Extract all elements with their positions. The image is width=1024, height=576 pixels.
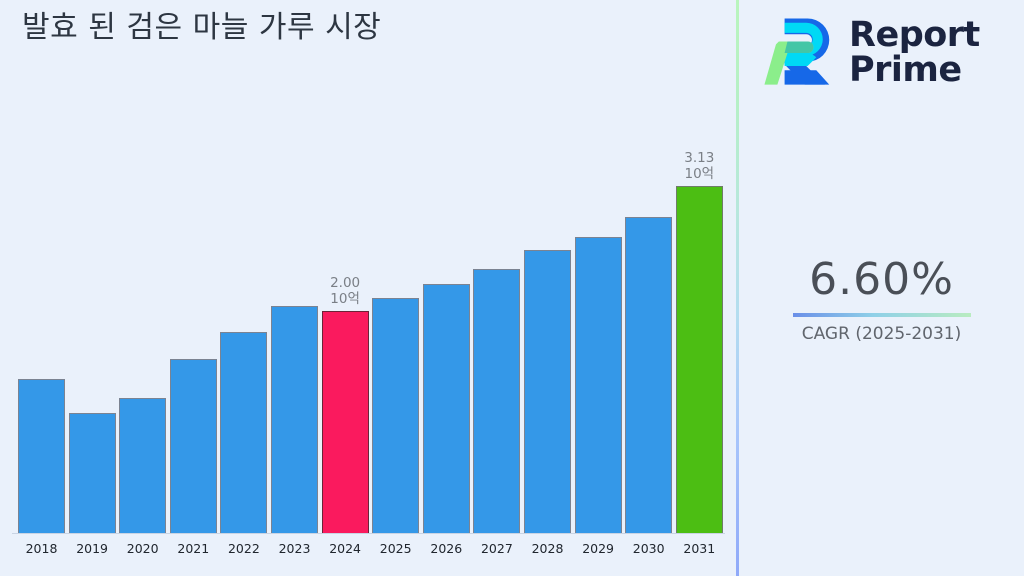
bar-value-unit-2031: 10억 — [684, 166, 714, 182]
x-axis-label-2024: 2024 — [322, 541, 369, 556]
bar-rect-2024[interactable] — [322, 311, 369, 533]
x-axis-label-2021: 2021 — [170, 541, 217, 556]
bar-2021[interactable] — [170, 359, 217, 533]
bar-rect-2022[interactable] — [220, 332, 267, 533]
bar-2030[interactable] — [625, 217, 672, 533]
bar-rect-2029[interactable] — [575, 237, 622, 533]
bar-rect-2018[interactable] — [18, 379, 65, 533]
bar-value-label-2031: 3.1310억 — [684, 150, 714, 182]
x-axis-label-2025: 2025 — [372, 541, 419, 556]
bar-2024[interactable] — [322, 311, 369, 533]
side-panel: Report Prime 6.60% CAGR (2025-2031) — [739, 0, 1024, 576]
bar-2020[interactable] — [119, 398, 166, 533]
bar-2025[interactable] — [372, 298, 419, 533]
bar-rect-2028[interactable] — [524, 250, 571, 533]
chart-panel: 발효 된 검은 마늘 가루 시장 20182019202020212022202… — [0, 0, 737, 576]
x-axis-label-2030: 2030 — [625, 541, 672, 556]
brand-logo: Report Prime — [763, 12, 980, 94]
bar-2026[interactable] — [423, 284, 470, 533]
bar-rect-2019[interactable] — [69, 413, 116, 533]
bar-rect-2031[interactable] — [676, 186, 723, 533]
bar-2022[interactable] — [220, 332, 267, 533]
screenshot-root: 발효 된 검은 마늘 가루 시장 20182019202020212022202… — [0, 0, 1024, 576]
cagr-divider-rule — [793, 313, 971, 317]
x-axis-label-2027: 2027 — [473, 541, 520, 556]
x-axis-label-2029: 2029 — [575, 541, 622, 556]
bar-2029[interactable] — [575, 237, 622, 533]
x-axis-label-2031: 2031 — [676, 541, 723, 556]
bar-value-label-2024: 2.0010억 — [330, 275, 360, 307]
bar-rect-2020[interactable] — [119, 398, 166, 533]
cagr-block: 6.60% CAGR (2025-2031) — [739, 255, 1024, 345]
bar-value-number-2031: 3.13 — [684, 150, 714, 166]
bar-rect-2030[interactable] — [625, 217, 672, 533]
bar-value-number-2024: 2.00 — [330, 275, 360, 291]
bar-2031[interactable] — [676, 186, 723, 533]
brand-name: Report Prime — [849, 18, 980, 88]
x-axis-label-2018: 2018 — [18, 541, 65, 556]
brand-name-line1: Report — [849, 18, 980, 53]
bar-rect-2023[interactable] — [271, 306, 318, 533]
bar-series: 2018201920202021202220232.0010억202420252… — [0, 0, 737, 576]
bar-2019[interactable] — [69, 413, 116, 533]
x-axis-label-2022: 2022 — [220, 541, 267, 556]
report-prime-r-logo-icon — [763, 12, 835, 94]
cagr-value: 6.60% — [739, 255, 1024, 305]
x-axis-label-2028: 2028 — [524, 541, 571, 556]
x-axis-label-2020: 2020 — [119, 541, 166, 556]
bar-rect-2025[interactable] — [372, 298, 419, 533]
bar-value-unit-2024: 10억 — [330, 291, 360, 307]
bar-2018[interactable] — [18, 379, 65, 533]
bar-rect-2027[interactable] — [473, 269, 520, 533]
bar-2028[interactable] — [524, 250, 571, 533]
x-axis-label-2019: 2019 — [69, 541, 116, 556]
bar-2027[interactable] — [473, 269, 520, 533]
x-axis-label-2026: 2026 — [423, 541, 470, 556]
x-axis-label-2023: 2023 — [271, 541, 318, 556]
bar-rect-2026[interactable] — [423, 284, 470, 533]
bar-2023[interactable] — [271, 306, 318, 533]
brand-name-line2: Prime — [849, 53, 980, 88]
bar-rect-2021[interactable] — [170, 359, 217, 533]
cagr-label: CAGR (2025-2031) — [739, 323, 1024, 345]
bar-chart-plot: 2018201920202021202220232.0010억202420252… — [0, 0, 737, 576]
